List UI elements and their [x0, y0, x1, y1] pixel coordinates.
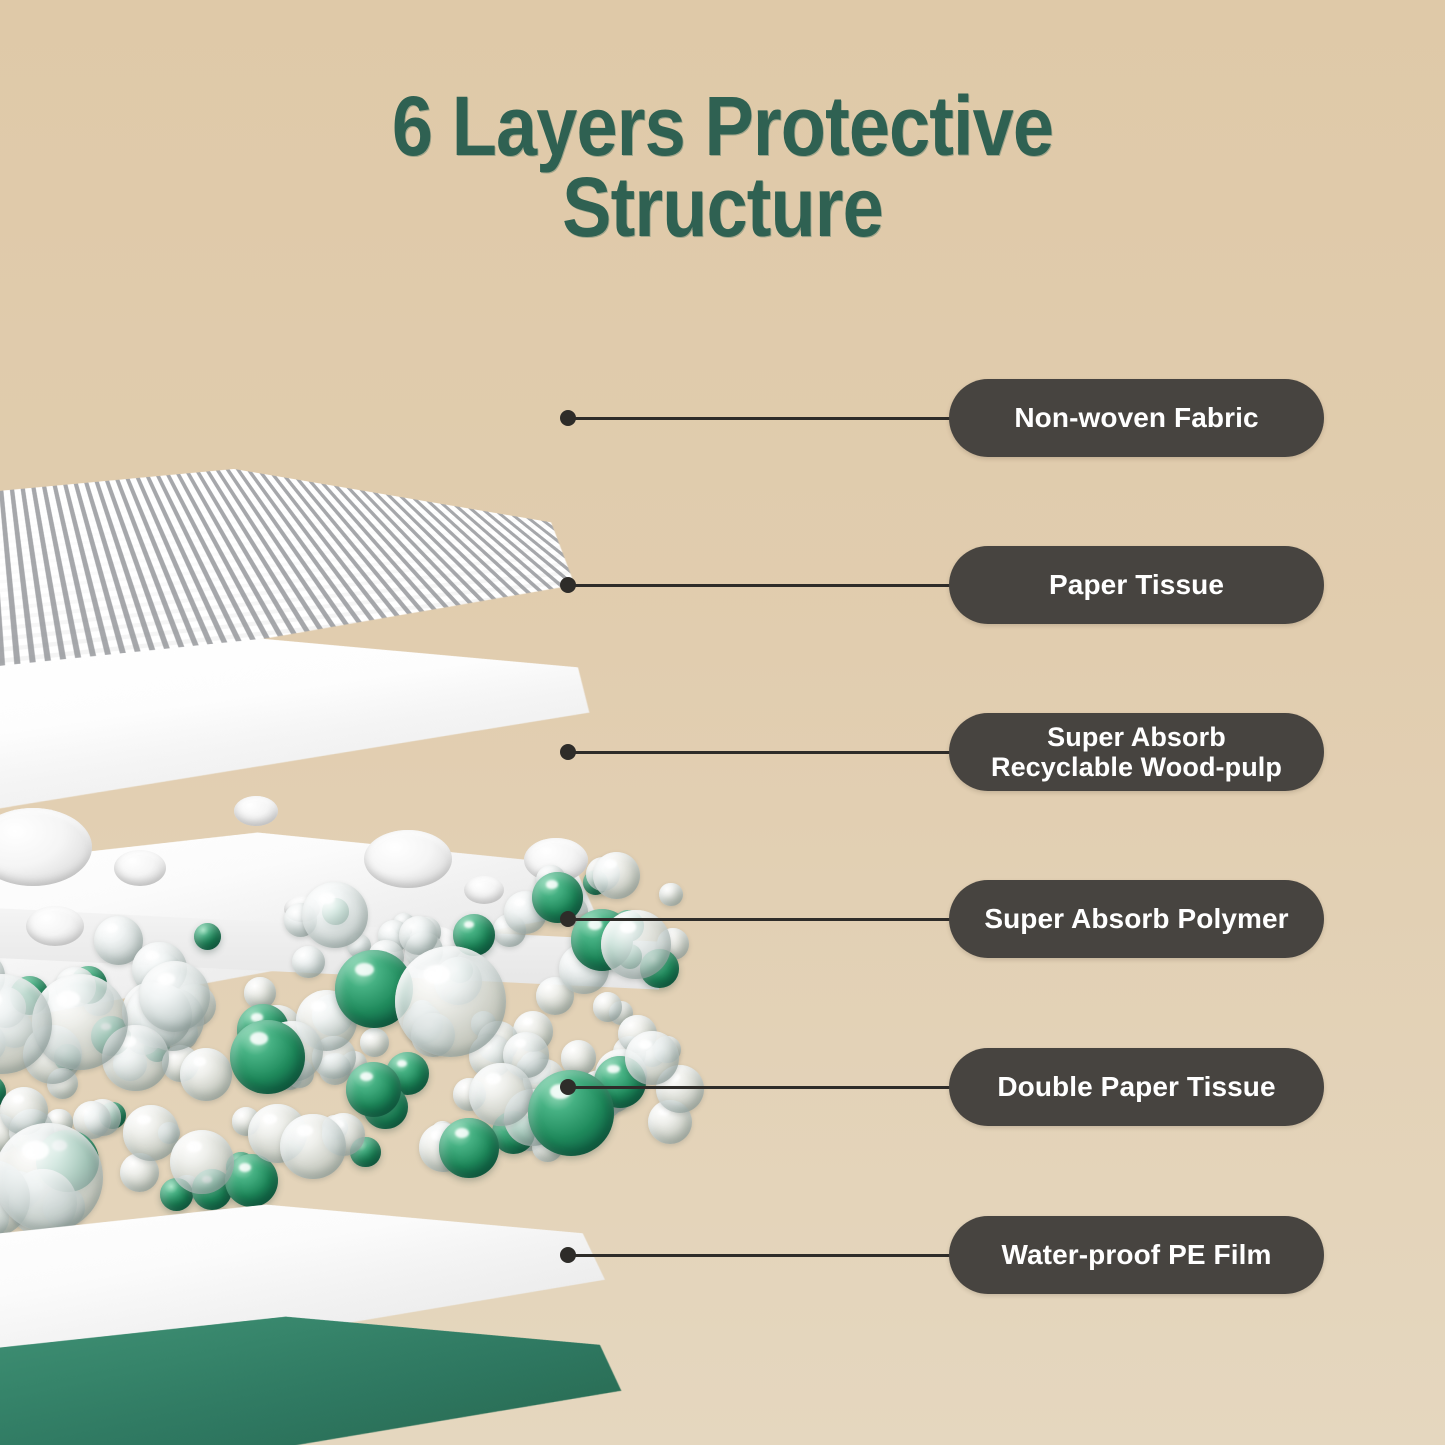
sap-bead-clear: [593, 992, 622, 1021]
leader-dot-icon: [560, 1079, 576, 1095]
bead-specular-highlight: [194, 1057, 207, 1066]
sap-bead-clear: [469, 1063, 533, 1127]
sap-bead-clear: [292, 946, 325, 979]
sap-bead-clear: [302, 882, 368, 948]
bead-specular-highlight: [605, 860, 616, 868]
leader-line: [574, 584, 951, 587]
infographic-canvas: 6 Layers Protective Structure Non-woven …: [0, 0, 1445, 1445]
bead-specular-highlight: [523, 1018, 533, 1025]
bead-specular-highlight: [311, 1001, 326, 1011]
bead-specular-highlight: [360, 1072, 373, 1081]
leader-dot-icon: [560, 410, 576, 426]
leader-dot-icon: [560, 911, 576, 927]
bead-specular-highlight: [158, 973, 175, 985]
bead-specular-highlight: [0, 991, 2, 1008]
bead-specular-highlight: [424, 965, 451, 984]
bead-specular-highlight: [515, 1039, 526, 1047]
label-pill-super-absorb-polymer[interactable]: Super Absorb Polymer: [949, 880, 1324, 958]
bead-specular-highlight: [319, 893, 335, 904]
bead-specular-highlight: [57, 991, 80, 1007]
label-pill-waterproof-pe-film[interactable]: Water-proof PE Film: [949, 1216, 1324, 1294]
bead-specular-highlight: [455, 1128, 469, 1138]
label-pill-non-woven-fabric[interactable]: Non-woven Fabric: [949, 379, 1324, 457]
label-pill-super-absorb-wood-pulp[interactable]: Super Absorb Recyclable Wood-pulp: [949, 713, 1324, 791]
bead-specular-highlight: [187, 1141, 202, 1152]
bead-specular-highlight: [464, 921, 474, 928]
sap-bead-green: [230, 1020, 304, 1094]
sap-bead-clear: [180, 1048, 232, 1100]
leader-line: [574, 417, 951, 420]
bead-specular-highlight: [355, 963, 374, 976]
bead-specular-highlight: [515, 899, 525, 906]
callout-layer-5: Double Paper Tissue: [560, 1047, 1324, 1127]
label-pill-paper-tissue[interactable]: Paper Tissue: [949, 546, 1324, 624]
sap-bead-clear: [139, 961, 210, 1032]
bead-specular-highlight: [297, 1125, 313, 1136]
bead-specular-highlight: [263, 1114, 277, 1124]
bead-specular-highlight: [137, 1115, 150, 1125]
bead-specular-highlight: [13, 1095, 25, 1103]
sap-bead-green: [439, 1118, 498, 1177]
sap-bead-green: [346, 1062, 400, 1116]
bead-specular-highlight: [22, 1141, 48, 1160]
bead-specular-highlight: [146, 951, 159, 960]
sap-bead-green: [194, 923, 221, 950]
sap-bead-clear: [0, 1123, 103, 1232]
bead-specular-highlight: [546, 880, 558, 889]
leader-dot-icon: [560, 577, 576, 593]
label-pill-double-paper-tissue[interactable]: Double Paper Tissue: [949, 1048, 1324, 1126]
bead-specular-highlight: [107, 924, 119, 932]
callout-layer-3: Super Absorb Recyclable Wood-pulp: [560, 712, 1324, 792]
callout-layer-6: Water-proof PE Film: [560, 1215, 1324, 1295]
bead-specular-highlight: [250, 1032, 268, 1045]
leader-line: [574, 918, 951, 921]
callout-layer-2: Paper Tissue: [560, 545, 1324, 625]
callout-layer-1: Non-woven Fabric: [560, 378, 1324, 458]
leader-line: [574, 751, 951, 754]
sap-bead-clear: [360, 1028, 389, 1057]
leader-line: [574, 1254, 951, 1257]
bead-specular-highlight: [486, 1073, 501, 1084]
bead-specular-highlight: [397, 1060, 407, 1067]
callout-layer-4: Super Absorb Polymer: [560, 879, 1324, 959]
bead-specular-highlight: [239, 1163, 252, 1172]
page-title: 6 Layers Protective Structure: [87, 86, 1359, 249]
sap-bead-clear: [280, 1114, 345, 1179]
leader-dot-icon: [560, 1247, 576, 1263]
leader-dot-icon: [560, 744, 576, 760]
leader-line: [574, 1086, 951, 1089]
sap-bead-clear: [395, 946, 506, 1057]
